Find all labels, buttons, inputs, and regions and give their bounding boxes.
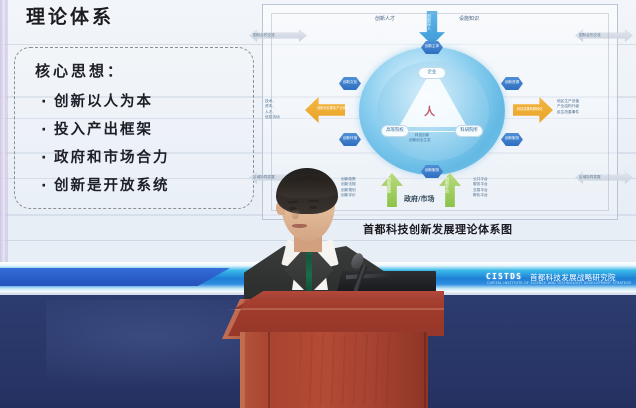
corner-arrow-label: 区域协同发展 [579,175,601,180]
bullet-marker: · [41,94,54,110]
mouth [292,224,307,228]
podium-seam [424,332,426,408]
people-center-label: 人 [424,103,435,119]
corner-arrow-label: 国际合作交流 [253,33,275,38]
bullet-marker: · [41,178,54,194]
core-idea-item: ·政府和市场合力 [41,146,170,167]
bottom-right-note: 公共平台服务平台交易平台孵化平台 [473,177,488,198]
bullet-marker: · [41,150,54,166]
ring-node-upper-right: 创新资源 [501,77,523,90]
ring-node-upper-left: 创新文化 [339,77,361,90]
platform-arrow-up [439,173,461,207]
corner-arrow-top-right [575,29,633,42]
outflow-arrow-left [305,97,345,123]
core-idea-text: 投入产出框架 [54,118,153,139]
axis-note-2: 创新创业生态 [409,138,431,143]
core-ideas-box: 核心思想： ·创新以人为本 ·投入产出框架 ·政府和市场合力 ·创新是开放系统 [14,47,254,209]
innovation-ellipse-outer [359,47,505,175]
podium-wood-grain [300,334,390,406]
outflow-arrow-left-label: 创新创业要素产业转移 [317,105,349,110]
core-idea-item: ·投入产出框架 [41,118,153,139]
center-node-enterprise: 企业 [418,67,446,79]
core-idea-item: ·创新以人为本 [41,90,153,111]
slide-title: 理论体系 [26,2,114,29]
axis-note: 科技创新 [415,133,429,138]
eye-right [309,206,317,209]
bullet-marker: · [41,122,54,138]
left-side-note: 技术、资本、人才、信息流动 [265,99,280,120]
corner-arrow-label: 国际合作交流 [579,33,601,38]
input-arrow-down [419,11,445,45]
podium-seam [268,332,270,408]
institute-logo: CISTDS [486,272,522,281]
top-left-note: 创新人才 [375,15,395,22]
platform-arrow-label: 创新平台 [445,177,449,193]
ring-node-lower-right: 创新服务 [501,133,523,146]
core-ideas-heading: 核心思想： [35,60,125,81]
center-node-university: 高等院校 [381,125,409,137]
triangle-shape [399,67,467,127]
innovation-ellipse-inner [377,61,489,161]
outflow-arrow-right-label: 科技成果转移转化 [517,106,543,111]
right-side-note: 地区生产总值产业结构升级民生改善事件 [557,99,579,115]
core-idea-text: 政府和市场合力 [54,146,170,167]
input-arrow-label: 创新投入 [427,14,431,30]
screen-left-edge-shadow [5,0,8,288]
presentation-scene: 理论体系 核心思想： ·创新以人为本 ·投入产出框架 ·政府和市场合力 ·创新是… [0,0,636,408]
top-right-note: 设施知识 [459,15,479,22]
podium-edge-highlight [228,308,444,310]
core-idea-text: 创新是开放系统 [54,174,170,195]
ring-node-top: 创新主体 [421,41,443,54]
center-node-institute: 科研院所 [455,125,483,137]
ring-node-lower-left: 创新环境 [339,133,361,146]
institute-name-en: CAPITAL INSTITUTE OF SCIENCE AND TECHNOL… [487,281,631,285]
nose [292,209,299,219]
node-connector [409,131,455,132]
outflow-arrow-right [513,97,553,123]
corner-arrow-bottom-right [575,171,633,184]
core-idea-item: ·创新是开放系统 [41,174,170,195]
core-idea-text: 创新以人为本 [54,90,153,111]
podium-front-face [228,300,444,336]
banner-wedge [0,268,230,286]
